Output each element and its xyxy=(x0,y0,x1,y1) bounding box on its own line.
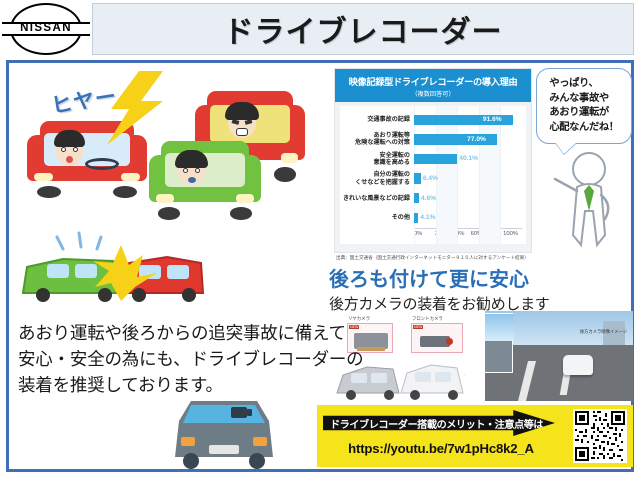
page-header: NISSAN ドライブレコーダー xyxy=(0,0,640,58)
bubble-line-4: 心配なんだね！ xyxy=(549,121,618,136)
chart-header: 映像記録型ドライブレコーダーの導入理由 （複数回答可） xyxy=(335,69,531,102)
chart-row: きれいな風景などの記録 4.6% xyxy=(340,188,522,208)
x-tick: 0% xyxy=(414,231,432,237)
angry-driver-face xyxy=(228,108,256,138)
white-car-ahead xyxy=(563,355,593,375)
green-car-driver-face xyxy=(178,156,205,186)
x-tick: 100% xyxy=(503,231,518,237)
cta-banner[interactable]: ドライブレコーダー搭載のメリット・注意点等は https://youtu.be/… xyxy=(317,405,633,467)
chart-bar-value: 4.1% xyxy=(420,214,435,221)
message-line-1: あおり運転や後ろからの追突事故に備えて xyxy=(18,320,318,346)
chart-row-track: 6.4% xyxy=(414,169,522,189)
chart-plot-area: 交通事故の記録 91.6% あおり運転等 危険な運転への対策 77.0% xyxy=(340,106,526,244)
message-line-3: 装着を推奨しております。 xyxy=(18,372,318,398)
inset-sky xyxy=(485,314,514,341)
page-title: ドライブレコーダー xyxy=(92,3,634,55)
rear-end-collision-illustration xyxy=(17,231,207,316)
message-line-2: 安心・安全の為にも、ドライブレコーダーの xyxy=(18,346,318,372)
front-camera-card: フロントカメラ NEW xyxy=(411,323,463,353)
product-photos: リヤカメラ NEW フロントカメラ NEW xyxy=(327,311,633,403)
chart-row-track: 77.0% xyxy=(414,130,522,150)
content-frame: ヒヤー xyxy=(6,60,634,472)
chart-bar-value: 4.6% xyxy=(421,195,436,202)
chart-row-label: あおり運転等 危険な運転への対策 xyxy=(340,132,414,146)
bubble-line-1: やっぱり、 xyxy=(549,77,618,92)
front-camera-lens xyxy=(446,338,453,345)
rear-camera-label: リヤカメラ xyxy=(348,316,370,322)
video-url[interactable]: https://youtu.be/7w1pHc8k2_A xyxy=(327,441,555,456)
chart-bar xyxy=(414,173,421,184)
dashcam-car-svg xyxy=(161,395,287,473)
chart-row-label: その他 xyxy=(340,214,414,221)
chart-row: 交通事故の記録 91.6% xyxy=(340,110,522,130)
logo-bar: NISSAN xyxy=(2,22,90,36)
page-title-text: ドライブレコーダー xyxy=(224,7,503,51)
bubble-line-2: みんな事故や xyxy=(549,92,618,107)
main-message-box: あおり運転や後ろからの追突事故に備えて 安心・安全の為にも、ドライブレコーダーの… xyxy=(12,315,324,397)
headline-main: 後ろも付けて更に安心 xyxy=(329,263,629,292)
rear-image-caption: 後方カメラ映像イメージ xyxy=(580,329,627,335)
logo-text: NISSAN xyxy=(20,23,72,35)
chart-title: 映像記録型ドライブレコーダーの導入理由 xyxy=(339,74,527,88)
inset-photo xyxy=(485,313,513,373)
chart-bar xyxy=(414,213,418,224)
chart-row-label: 自分の運転の くせなどを把握する xyxy=(340,171,414,185)
chart-row-label: 交通事故の記録 xyxy=(340,116,414,123)
chart-bar xyxy=(414,154,457,165)
sub-headline: 後ろも付けて更に安心 後方カメラの装着をお勧めします xyxy=(329,263,629,314)
chart-bar-value: 6.4% xyxy=(423,175,438,182)
green-car-scared xyxy=(149,141,261,215)
front-camera-label: フロントカメラ xyxy=(412,316,443,322)
chart-row: 安全運転の 意識を高める 40.1% xyxy=(340,149,522,169)
chart-row: 自分の運転の くせなどを把握する 6.4% xyxy=(340,169,522,189)
chart-row-track: 40.1% xyxy=(414,149,522,169)
chart-row: その他 4.1% xyxy=(340,208,522,228)
collision-cars-svg xyxy=(17,231,207,316)
speech-bubble-text: やっぱり、 みんな事故や あおり運転が 心配なんだね！ xyxy=(549,77,618,135)
businessman-svg xyxy=(549,149,629,253)
bubble-line-3: あおり運転が xyxy=(549,106,618,121)
chart-row-label: きれいな風景などの記録 xyxy=(340,195,414,202)
chart-bar xyxy=(414,193,419,204)
cta-text: ドライブレコーダー搭載のメリット・注意点等は xyxy=(323,416,543,431)
qr-code[interactable] xyxy=(573,409,627,463)
businessman-illustration xyxy=(549,149,629,253)
chart-x-axis: 0% 20% 40% 60% 80% 100% xyxy=(414,228,522,237)
x-tick: 80% xyxy=(485,231,503,237)
survey-chart: 映像記録型ドライブレコーダーの導入理由 （複数回答可） 交通事故の記録 91.6… xyxy=(334,68,532,253)
car-with-dashcam-illustration xyxy=(161,395,287,473)
x-tick: 40% xyxy=(450,231,468,237)
chart-row: あおり運転等 危険な運転への対策 77.0% xyxy=(340,130,522,150)
road-camera-photo: 前・後カメラ映像イメージ 後方カメラ映像イメージ xyxy=(485,311,633,401)
cta-arrow-bar: ドライブレコーダー搭載のメリット・注意点等は xyxy=(323,410,555,436)
chart-row-label: 安全運転の 意識を高める xyxy=(340,152,414,166)
x-tick: 20% xyxy=(432,231,450,237)
chart-row-track: 91.6% xyxy=(414,110,522,130)
nissan-logo: NISSAN xyxy=(0,1,92,57)
chart-bar-value: 91.6% xyxy=(483,116,502,123)
camera-tag: NEW xyxy=(413,325,423,329)
chart-bar-value: 40.1% xyxy=(459,155,478,162)
chart-subtitle: （複数回答可） xyxy=(339,89,527,98)
x-tick: 60% xyxy=(467,231,485,237)
speech-bubble: やっぱり、 みんな事故や あおり運転が 心配なんだね！ xyxy=(536,68,632,144)
qr-code-svg xyxy=(575,411,625,461)
camera-tag: NEW xyxy=(349,325,359,329)
chart-bar-value: 77.0% xyxy=(467,136,486,143)
illustration-area: ヒヤー xyxy=(9,63,327,313)
chart-row-track: 4.6% xyxy=(414,188,522,208)
chart-bars: 交通事故の記録 91.6% あおり運転等 危険な運転への対策 77.0% xyxy=(340,110,522,228)
chart-row-track: 4.1% xyxy=(414,208,522,228)
chart-source: 出典：国土交通省（国土交通行政インターネットモニター９１０人に対するアンケート結… xyxy=(336,255,551,261)
